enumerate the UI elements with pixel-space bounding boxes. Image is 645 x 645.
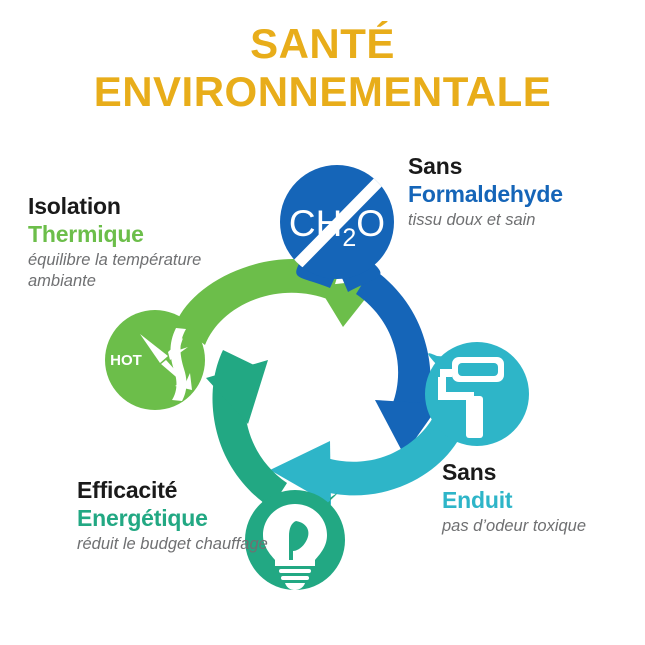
label-sans-enduit: Sans Enduit pas d’odeur toxique xyxy=(442,458,642,537)
isolation-desc: équilibre la température ambiante xyxy=(28,250,268,292)
formula-prefix: CH xyxy=(289,203,342,244)
label-sans-formaldehyde: Sans Formaldehyde tissu doux et sain xyxy=(408,152,643,231)
efficacite-sub: Energétique xyxy=(77,504,292,532)
efficacite-head: Efficacité xyxy=(77,476,292,504)
node-isolation-thermique[interactable]: HOT xyxy=(105,310,205,410)
enduit-sub: Enduit xyxy=(442,486,642,514)
formaldehyde-head: Sans xyxy=(408,152,643,180)
isolation-head: Isolation xyxy=(28,192,268,220)
enduit-desc: pas d’odeur toxique xyxy=(442,516,642,537)
enduit-head: Sans xyxy=(442,458,642,486)
label-efficacite-energetique: Efficacité Energétique réduit le budget … xyxy=(77,476,292,555)
isolation-sub: Thermique xyxy=(28,220,268,248)
hot-label: HOT xyxy=(110,352,142,369)
node-sans-enduit[interactable] xyxy=(425,342,529,446)
formaldehyde-desc: tissu doux et sain xyxy=(408,210,643,231)
label-isolation-thermique: Isolation Thermique équilibre la tempéra… xyxy=(28,192,268,292)
formula-subscript: 2 xyxy=(342,224,356,252)
infographic-root: SANTÉ ENVIRONNEMENTALE xyxy=(0,0,645,645)
formula-suffix: O xyxy=(356,203,385,244)
node-sans-formaldehyde[interactable]: CH2O xyxy=(280,165,394,292)
efficacite-desc: réduit le budget chauffage xyxy=(77,534,292,555)
formaldehyde-sub: Formaldehyde xyxy=(408,180,643,208)
